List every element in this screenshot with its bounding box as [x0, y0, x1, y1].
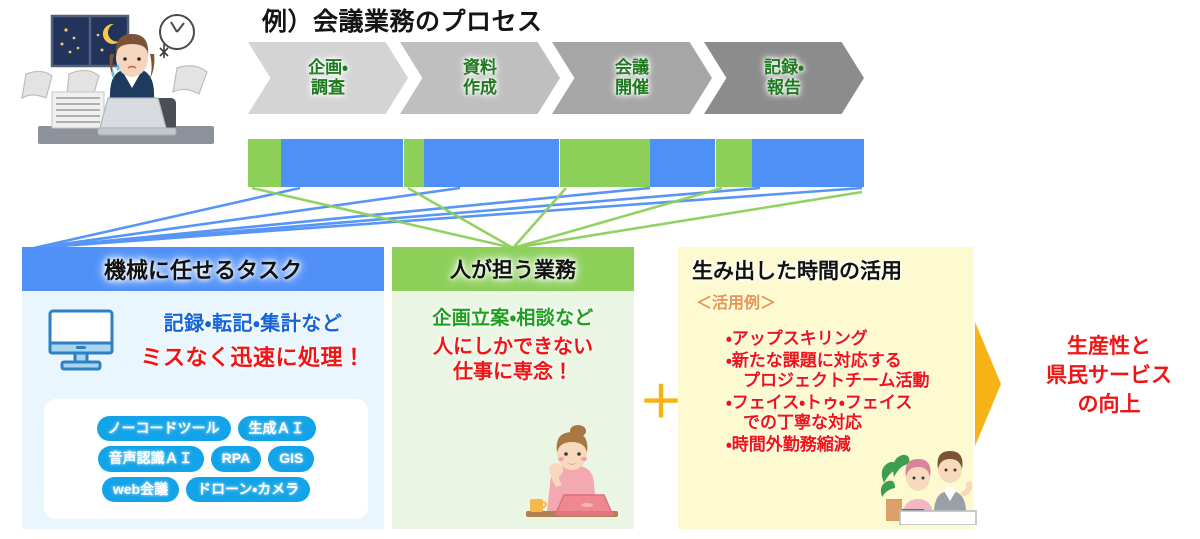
tool-tag[interactable]: 音声認識ＡＩ [98, 446, 204, 472]
bar-segment-human [716, 139, 752, 187]
machine-line-2: ミスなく迅速に処理！ [130, 340, 376, 372]
process-step-label-line2: 報告 [764, 78, 804, 98]
bar-segment-machine [650, 139, 715, 187]
bar-segment-human [560, 139, 650, 187]
utilization-item-1: ・アップスキリング [726, 329, 1012, 349]
panel-machine-title: 機械に任せるタスク [22, 247, 384, 291]
task-split-bar-4 [716, 139, 864, 187]
process-step-1[interactable]: 企画・調査 [248, 42, 408, 114]
process-step-label-line2: 作成 [463, 78, 497, 98]
process-step-label-line1: 記録・ [764, 58, 804, 78]
task-split-bar-2 [404, 139, 559, 187]
process-step-4[interactable]: 記録・報告 [704, 42, 864, 114]
diagram-canvas: 例）会議業務のプロセス [0, 0, 1200, 539]
goal-text: 生産性と 県民サービス の向上 [1026, 333, 1192, 420]
process-step-label-line2: 開催 [615, 78, 649, 98]
process-step-3[interactable]: 会議開催 [552, 42, 712, 114]
tool-tag[interactable]: 生成ＡＩ [238, 416, 316, 442]
staff-consultation-illustration [878, 425, 978, 525]
bar-segment-human [404, 139, 424, 187]
bar-segment-human [248, 139, 281, 187]
tag-row-1: ノーコードツール生成ＡＩ [50, 416, 362, 442]
woman-at-laptop-illustration [520, 423, 624, 523]
process-step-label-line1: 資料 [463, 58, 497, 78]
tool-tag[interactable]: ノーコードツール [97, 416, 231, 442]
right-arrow-shape [975, 322, 1023, 446]
process-step-label-line1: 企画・ [308, 58, 348, 78]
woman-overtime-desk-illustration [14, 2, 230, 154]
process-step-label-line1: 会議 [615, 58, 649, 78]
tag-row-3: web会議ドローン・カメラ [50, 477, 362, 503]
panel-human-tasks: 人が担う業務 企画立案・相談など 人にしかできない 仕事に専念！ [392, 247, 634, 529]
machine-line-1: 記録・転記・集計など [130, 307, 376, 336]
tool-tag[interactable]: ドローン・カメラ [186, 477, 310, 503]
process-step-2[interactable]: 資料作成 [400, 42, 560, 114]
tool-tag[interactable]: GIS [268, 446, 314, 472]
panel-human-title: 人が担う業務 [392, 247, 634, 291]
tool-tag[interactable]: RPA [211, 446, 262, 472]
utilization-item-2: ・新たな課題に対応する プロジェクトチーム活動 [726, 351, 1012, 391]
bar-segment-machine [424, 139, 559, 187]
human-line-1: 企画立案・相談など [392, 303, 634, 330]
panel-machine-tasks: 機械に任せるタスク 記録・転記・集計など ミスなく迅速に処理！ ノーコードツール… [22, 247, 384, 529]
desktop-monitor-icon [48, 307, 114, 373]
task-split-bar-1 [248, 139, 403, 187]
panel-time-subtitle: ＜活用例＞ [696, 289, 776, 313]
tool-tag-list: ノーコードツール生成ＡＩ音声認識ＡＩRPAGISweb会議ドローン・カメラ [44, 399, 368, 519]
bar-segment-machine [752, 139, 864, 187]
human-line-2: 人にしかできない 仕事に専念！ [392, 335, 634, 385]
panel-time-title: 生み出した時間の活用 [692, 255, 902, 285]
tool-tag[interactable]: web会議 [102, 477, 179, 503]
panel-time-utilization: 生み出した時間の活用 ＜活用例＞ ・アップスキリング・新たな課題に対応する プロ… [678, 247, 973, 529]
plus-symbol: ＋ [639, 381, 683, 425]
tag-row-2: 音声認識ＡＩRPAGIS [50, 446, 362, 472]
process-step-label-line2: 調査 [308, 78, 348, 98]
page-title: 例）会議業務のプロセス [262, 2, 543, 38]
task-split-bar-3 [560, 139, 715, 187]
bar-segment-machine [281, 139, 403, 187]
